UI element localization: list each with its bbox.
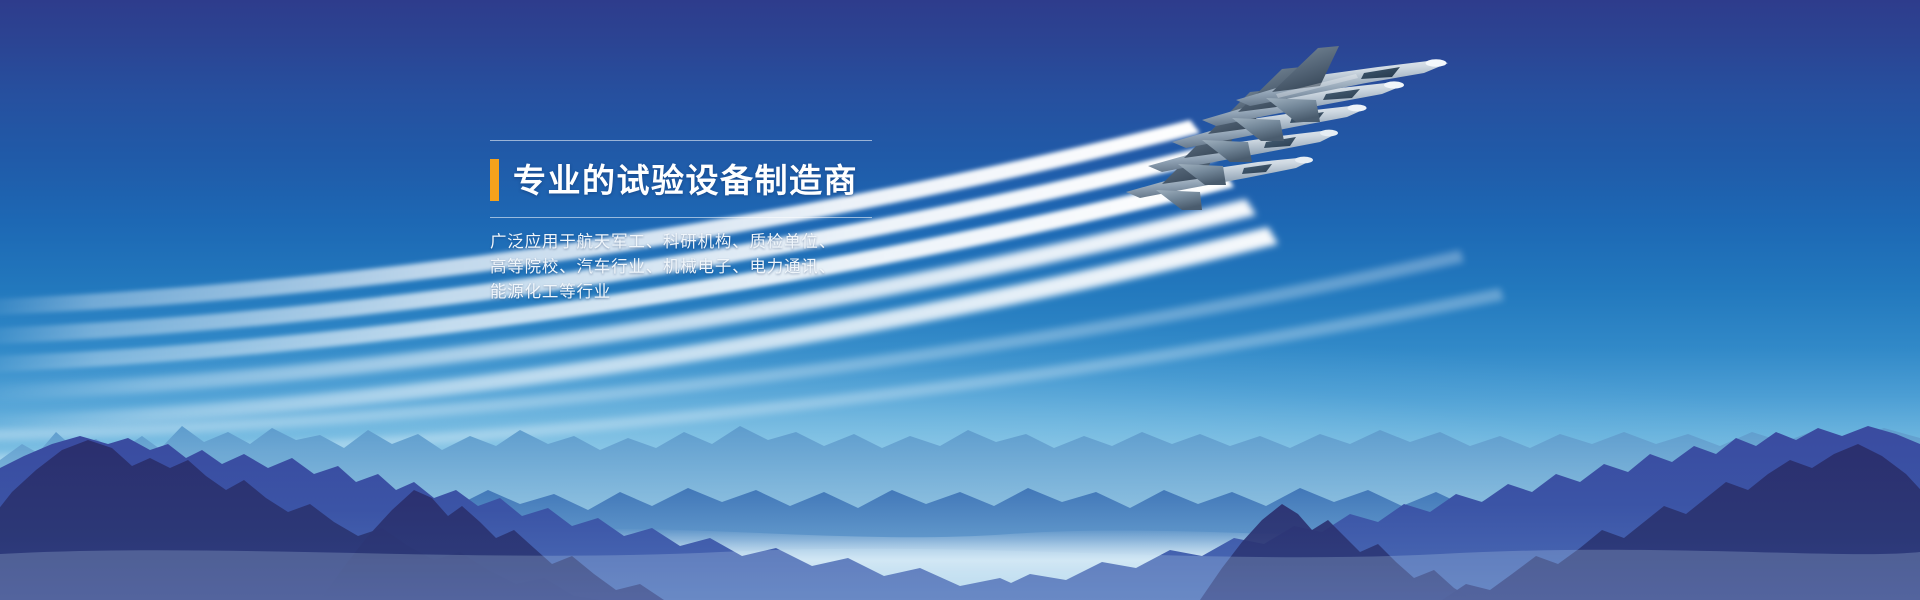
subtitle-block: 广泛应用于航天军工、科研机构、质检单位、 高等院校、汽车行业、机械电子、电力通讯… (490, 230, 910, 305)
headline-rule-bottom (490, 217, 872, 218)
accent-bar (490, 159, 499, 201)
subtitle-line-2: 高等院校、汽车行业、机械电子、电力通讯、 (490, 255, 910, 280)
subtitle-line-1: 广泛应用于航天军工、科研机构、质检单位、 (490, 230, 910, 255)
page-title: 专业的试验设备制造商 (513, 164, 858, 197)
headline-row: 专业的试验设备制造商 (390, 151, 910, 209)
hero-banner: 专业的试验设备制造商 广泛应用于航天军工、科研机构、质检单位、 高等院校、汽车行… (0, 0, 1920, 600)
subtitle-line-3: 能源化工等行业 (490, 280, 910, 305)
sky-gradient-background (0, 0, 1920, 600)
headline-rule-top (490, 140, 872, 141)
banner-copy: 专业的试验设备制造商 广泛应用于航天军工、科研机构、质检单位、 高等院校、汽车行… (390, 140, 910, 305)
